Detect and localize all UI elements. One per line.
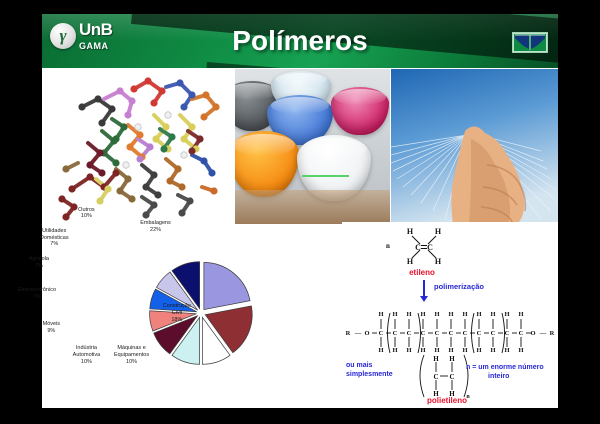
svg-text:H: H (434, 311, 439, 318)
svg-text:H: H (433, 355, 439, 363)
polymer-label: polietileno (402, 396, 492, 405)
svg-text:C: C (463, 330, 468, 337)
svg-text:H: H (490, 311, 495, 318)
unb-emblem-icon (512, 32, 548, 53)
polymer-molecule-model (42, 69, 234, 224)
svg-text:H: H (518, 311, 523, 318)
svg-text:H: H (448, 311, 453, 318)
svg-text:R: R (346, 330, 351, 337)
svg-text:C: C (407, 330, 412, 337)
svg-text:H: H (435, 257, 442, 266)
svg-text:H: H (476, 311, 481, 318)
pie-slice-label: Embalagens 22% (126, 220, 186, 234)
pie-slice-label: Agrícola 7% (9, 256, 69, 270)
fibers-graphic (391, 69, 558, 224)
pie-slice-label: Construção Civil 18% (147, 303, 207, 324)
svg-text:C: C (505, 330, 510, 337)
molecule-graphic (42, 69, 234, 224)
pie-slice-label: Eletroeletrônico 7% (7, 287, 67, 301)
svg-text:H: H (504, 311, 509, 318)
svg-text:C: C (427, 243, 433, 252)
polymerization-arrow-head (420, 296, 428, 302)
svg-text:C: C (449, 330, 454, 337)
pie-slice-label: Utilidades Domésticas 7% (24, 228, 84, 249)
svg-text:H: H (462, 311, 467, 318)
svg-text:—: — (354, 330, 362, 337)
presentation-slide: γ UnB GAMA Polímeros (42, 14, 558, 408)
pie-slice-label: Outros 10% (56, 207, 116, 221)
svg-text:C: C (477, 330, 482, 337)
n-note-line2: inteiro (488, 373, 509, 380)
svg-text:H: H (435, 227, 442, 236)
svg-text:H: H (407, 257, 414, 266)
n-note-line1: n = um enorme número (466, 364, 544, 371)
polyethylene-chain-structure: R— O HCH HCH HCH HCH HCH HCH HCH HCH HCH… (342, 304, 558, 360)
svg-text:H: H (504, 347, 509, 354)
svg-text:H: H (518, 347, 523, 354)
polymerization-arrow-line (423, 280, 425, 297)
monomer-label: etileno (342, 268, 502, 277)
plastic-pellets-bowls (235, 69, 390, 224)
pie-slice-label: Móveis 9% (21, 321, 81, 335)
hand-pulling-polymer-fibers (391, 69, 558, 224)
svg-text:H: H (378, 347, 383, 354)
svg-text:C: C (379, 330, 384, 337)
pie-slice-label: Indústria Automotiva 10% (56, 345, 116, 366)
svg-text:H: H (378, 311, 383, 318)
green-accent-line (302, 175, 349, 177)
simpler-notation-line1: ou mais (346, 362, 372, 369)
svg-text:C: C (393, 330, 398, 337)
svg-text:H: H (420, 311, 425, 318)
svg-text:C: C (491, 330, 496, 337)
svg-text:C: C (421, 330, 426, 337)
screenshot-root: γ UnB GAMA Polímeros (0, 0, 600, 424)
svg-text:C: C (435, 330, 440, 337)
svg-text:C: C (433, 373, 438, 381)
slide-title: Polímeros (42, 14, 558, 68)
pie-slice (204, 263, 250, 310)
svg-text:H: H (406, 311, 411, 318)
simpler-notation-line2: simplesmente (346, 371, 393, 378)
pellets-table-surface (235, 190, 390, 224)
svg-text:H: H (392, 311, 397, 318)
svg-text:—: — (539, 330, 547, 337)
svg-text:C: C (449, 373, 454, 381)
bowl-pink-pellets (331, 87, 389, 135)
polymerization-label: polimerização (434, 282, 484, 291)
svg-text:R: R (550, 330, 555, 337)
plastics-consumption-pie-chart: Embalagens 22%Construção Civil 18%Máquin… (50, 226, 340, 406)
svg-text:C: C (415, 243, 421, 252)
polymerization-diagram: n HH CC HH etileno (342, 222, 558, 408)
svg-text:C: C (519, 330, 524, 337)
svg-text:O: O (364, 330, 369, 337)
svg-text:H: H (449, 355, 455, 363)
svg-text:H: H (407, 227, 414, 236)
svg-text:O: O (530, 330, 535, 337)
bowl-orange-pellets (235, 131, 299, 197)
svg-text:H: H (392, 347, 397, 354)
